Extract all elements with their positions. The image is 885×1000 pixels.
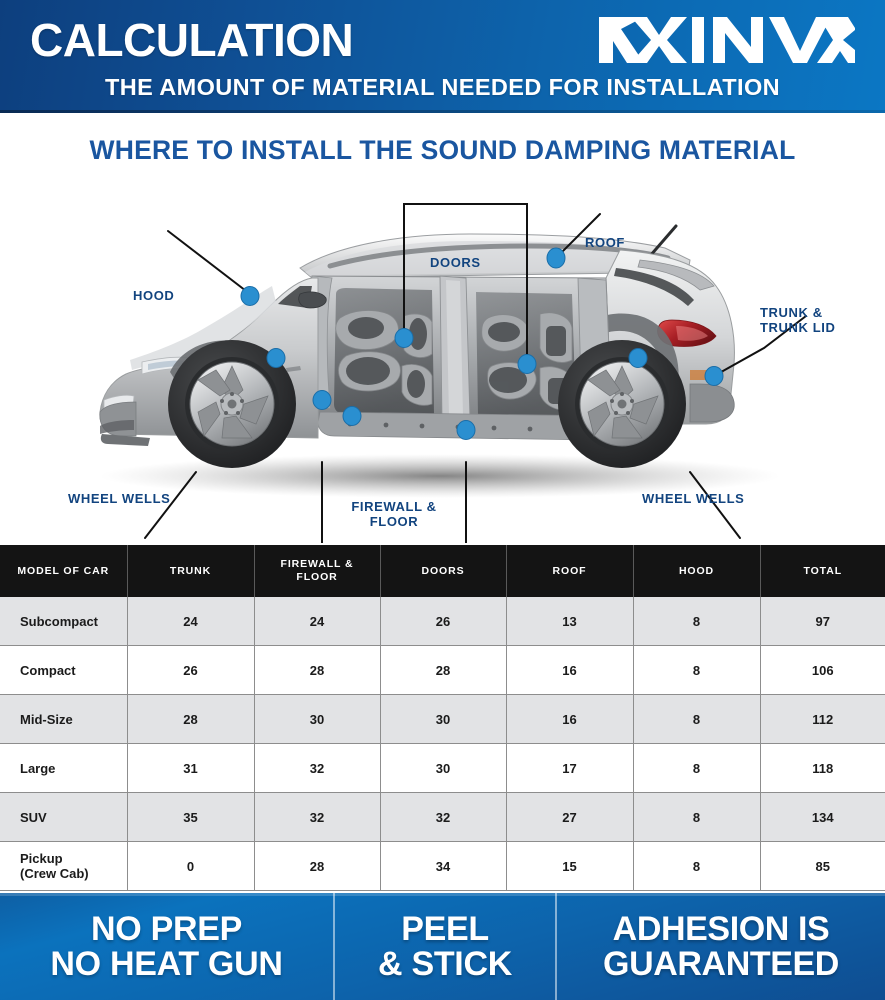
cell-doors: 34 [380, 842, 506, 891]
footer-cell-peel-stick: PEEL & STICK [333, 893, 555, 1000]
dot-door-front[interactable] [395, 329, 413, 348]
footer-cell-adhesion: ADHESION IS GUARANTEED [555, 893, 885, 1000]
cell-firewall: 30 [254, 695, 380, 744]
callout-label-roof: ROOF [585, 235, 625, 250]
material-table: MODEL OF CAR TRUNK FIREWALL & FLOOR DOOR… [0, 545, 885, 891]
diagram-section: WHERE TO INSTALL THE SOUND DAMPING MATER… [0, 113, 885, 543]
cell-hood: 8 [633, 695, 760, 744]
callout-label-trunk-line2: TRUNK LID [760, 320, 880, 335]
column-header-firewall-line1: FIREWALL & [257, 558, 378, 571]
column-header-trunk: TRUNK [127, 545, 254, 597]
dot-floor-left[interactable] [343, 407, 361, 426]
car-illustration [0, 168, 885, 543]
dot-trunk[interactable] [705, 367, 723, 386]
dot-floor[interactable] [457, 421, 475, 440]
header-banner: CALCULATION [0, 0, 885, 113]
callout-label-wheel-wells-front: WHEEL WELLS [68, 491, 170, 506]
cell-model: Mid-Size [0, 695, 127, 744]
cell-total: 85 [760, 842, 885, 891]
cell-total: 112 [760, 695, 885, 744]
cell-hood: 8 [633, 646, 760, 695]
header-top-row: CALCULATION [0, 13, 885, 67]
cell-total: 134 [760, 793, 885, 842]
cell-doors: 32 [380, 793, 506, 842]
table-row: SUV 35 32 32 27 8 134 [0, 793, 885, 842]
column-header-hood: HOOD [633, 545, 760, 597]
infographic-page: CALCULATION [0, 0, 885, 1000]
cell-model: Subcompact [0, 597, 127, 646]
cell-model: Large [0, 744, 127, 793]
dot-wheel-well-front[interactable] [267, 349, 285, 368]
cell-hood: 8 [633, 793, 760, 842]
cell-total: 118 [760, 744, 885, 793]
dot-firewall[interactable] [313, 391, 331, 410]
callout-label-trunk: TRUNK & TRUNK LID [760, 305, 880, 335]
cell-roof: 13 [506, 597, 633, 646]
cell-trunk: 26 [127, 646, 254, 695]
column-header-total: TOTAL [760, 545, 885, 597]
cell-firewall: 28 [254, 842, 380, 891]
rear-wheel [558, 340, 686, 468]
column-header-model: MODEL OF CAR [0, 545, 127, 597]
dot-door-rear[interactable] [518, 355, 536, 374]
cell-firewall: 24 [254, 597, 380, 646]
cell-trunk: 24 [127, 597, 254, 646]
table-row: Large 31 32 30 17 8 118 [0, 744, 885, 793]
cell-roof: 16 [506, 646, 633, 695]
section-title: WHERE TO INSTALL THE SOUND DAMPING MATER… [0, 135, 885, 166]
footer-cell-no-prep: NO PREP NO HEAT GUN [0, 893, 333, 1000]
dot-wheel-well-rear[interactable] [629, 349, 647, 368]
cell-firewall: 32 [254, 793, 380, 842]
side-mirror [299, 292, 327, 308]
footer-adhesion-line1: ADHESION IS [603, 912, 839, 947]
cell-model: Compact [0, 646, 127, 695]
footer-peel-line1: PEEL [378, 912, 512, 947]
cell-doors: 26 [380, 597, 506, 646]
footer-banner: NO PREP NO HEAT GUN PEEL & STICK ADHESIO… [0, 893, 885, 1000]
cell-roof: 16 [506, 695, 633, 744]
callout-label-wheel-wells-rear: WHEEL WELLS [642, 491, 744, 506]
dot-hood[interactable] [241, 287, 259, 306]
callout-label-doors: DOORS [430, 255, 481, 270]
table-body: Subcompact 24 24 26 13 8 97 Compact 26 2… [0, 597, 885, 891]
column-header-doors: DOORS [380, 545, 506, 597]
callout-label-firewall-line1: FIREWALL & [314, 499, 474, 514]
cell-total: 106 [760, 646, 885, 695]
cell-trunk: 31 [127, 744, 254, 793]
footer-peel-line2: & STICK [378, 947, 512, 982]
table-row: Pickup (Crew Cab) 0 28 34 15 8 85 [0, 842, 885, 891]
nvx-logo-mark [597, 15, 855, 65]
cell-firewall: 28 [254, 646, 380, 695]
cell-doors: 28 [380, 646, 506, 695]
footer-adhesion-line2: GUARANTEED [603, 947, 839, 982]
car-diagram-svg [0, 168, 885, 543]
callout-label-firewall-line2: FLOOR [314, 514, 474, 529]
nvx-logo [597, 15, 855, 65]
callout-label-trunk-line1: TRUNK & [760, 305, 880, 320]
dot-roof[interactable] [547, 248, 565, 268]
cell-trunk: 0 [127, 842, 254, 891]
footer-no-prep-line2: NO HEAT GUN [50, 947, 282, 982]
column-header-firewall: FIREWALL & FLOOR [254, 545, 380, 597]
cell-doors: 30 [380, 744, 506, 793]
cell-total: 97 [760, 597, 885, 646]
cell-model: Pickup (Crew Cab) [0, 842, 127, 891]
page-title: CALCULATION [30, 15, 353, 65]
callout-label-firewall: FIREWALL & FLOOR [314, 499, 474, 529]
callout-label-hood: HOOD [133, 288, 174, 303]
cell-hood: 8 [633, 597, 760, 646]
cell-roof: 27 [506, 793, 633, 842]
cell-model: SUV [0, 793, 127, 842]
cell-hood: 8 [633, 842, 760, 891]
cell-roof: 17 [506, 744, 633, 793]
cell-trunk: 28 [127, 695, 254, 744]
cell-hood: 8 [633, 744, 760, 793]
cell-doors: 30 [380, 695, 506, 744]
table-row: Mid-Size 28 30 30 16 8 112 [0, 695, 885, 744]
table-header-row: MODEL OF CAR TRUNK FIREWALL & FLOOR DOOR… [0, 545, 885, 597]
cell-model-line2: (Crew Cab) [20, 866, 125, 881]
cell-firewall: 32 [254, 744, 380, 793]
cell-roof: 15 [506, 842, 633, 891]
footer-no-prep-line1: NO PREP [50, 912, 282, 947]
table-row: Subcompact 24 24 26 13 8 97 [0, 597, 885, 646]
cell-trunk: 35 [127, 793, 254, 842]
header-subtitle: THE AMOUNT OF MATERIAL NEEDED FOR INSTAL… [0, 73, 885, 101]
table-row: Compact 26 28 28 16 8 106 [0, 646, 885, 695]
column-header-roof: ROOF [506, 545, 633, 597]
cell-model-line1: Pickup [20, 851, 125, 866]
column-header-firewall-line2: FLOOR [257, 571, 378, 584]
